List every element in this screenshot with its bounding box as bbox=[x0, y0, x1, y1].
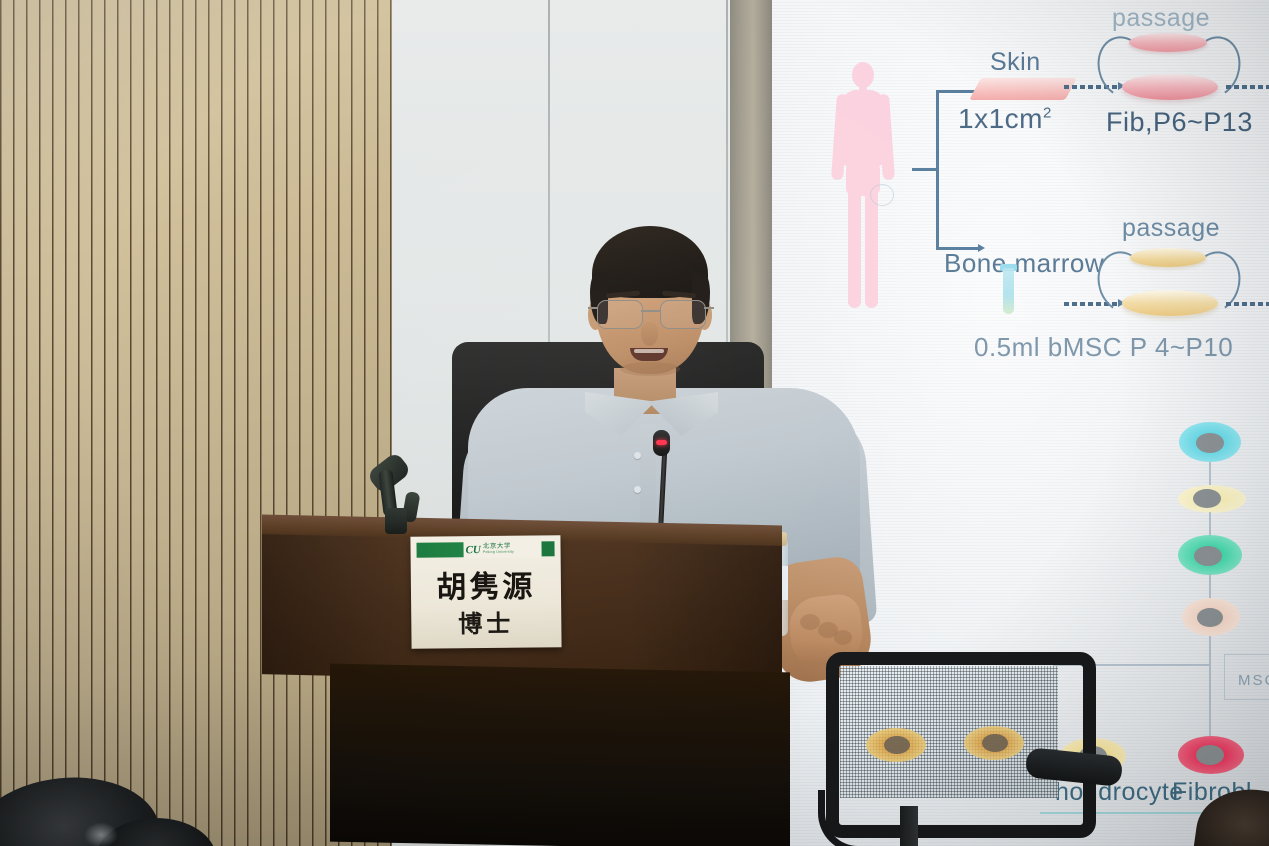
skin-sample-shape bbox=[969, 78, 1077, 100]
cell-teal-nucleus bbox=[1194, 546, 1222, 566]
glasses-lens-left bbox=[597, 300, 643, 329]
branch-to-fibroblast bbox=[1209, 664, 1211, 736]
arrow-fib-out bbox=[1226, 85, 1269, 89]
shirt-button-1 bbox=[634, 452, 641, 459]
nameplate-name: 胡隽源 bbox=[411, 561, 561, 607]
slide-skin-label: Skin bbox=[990, 48, 1041, 77]
cell-peach-nucleus bbox=[1197, 608, 1223, 627]
slide-passage-label-bottom: passage bbox=[1122, 214, 1220, 243]
petri-dish-yellow-small bbox=[1130, 248, 1206, 267]
chair-post bbox=[900, 806, 918, 846]
logo-text-en: Peking University bbox=[483, 551, 514, 555]
glasses-lens-right bbox=[660, 300, 706, 329]
slide-bone-marrow-label: Bone marrow bbox=[944, 248, 1104, 279]
glasses-bridge bbox=[641, 310, 661, 312]
floor-cable bbox=[818, 790, 895, 846]
cell-link-1 bbox=[1209, 462, 1211, 486]
slide-bmsc-label: 0.5ml bMSC P 4~P10 bbox=[974, 332, 1233, 363]
slide-passage-label-top: passage bbox=[1112, 4, 1210, 33]
slide-fib-label: Fib,P6~P13 bbox=[1106, 107, 1253, 138]
bracket-stem bbox=[912, 168, 938, 171]
marrow-tube-icon bbox=[1003, 268, 1014, 314]
glasses-temple-right bbox=[704, 307, 714, 309]
microphone-led-indicator bbox=[656, 440, 667, 445]
cell-cyan-nucleus bbox=[1196, 433, 1224, 453]
audience-highlight bbox=[84, 822, 118, 846]
slide-msc-label: MSC bbox=[1238, 672, 1269, 689]
petri-dish-yellow-large bbox=[1122, 290, 1218, 316]
cell-link-4 bbox=[1209, 636, 1211, 666]
glasses-temple-left bbox=[588, 307, 598, 309]
speaker-nose bbox=[641, 322, 658, 346]
slide-skin-size-label: 1x1cm2 bbox=[958, 103, 1052, 135]
nameplate-title: 博士 bbox=[411, 603, 561, 640]
logo-mark-icon: CU bbox=[465, 544, 480, 556]
presentation-photo-scene: Skin 1x1cm2 passage Fib,P6~P13 Bone marr… bbox=[0, 0, 1269, 846]
petri-dish-pink-small bbox=[1129, 33, 1207, 52]
arrow-bmsc-out bbox=[1226, 302, 1269, 306]
cell-link-2 bbox=[1209, 512, 1211, 536]
nameplate-logo: CU 北京大学 Peking University bbox=[463, 540, 541, 558]
hand-knuckle-1 bbox=[800, 614, 820, 630]
cell-yellow-nucleus bbox=[1193, 489, 1221, 508]
speaker-chin-shadow bbox=[620, 362, 680, 376]
podium-base bbox=[330, 664, 790, 846]
shirt-button-2 bbox=[634, 486, 641, 493]
hand-knuckle-3 bbox=[834, 630, 852, 645]
speaker-teeth bbox=[634, 349, 664, 353]
fibroblast-nucleus bbox=[1196, 745, 1224, 765]
human-body-silhouette-icon bbox=[832, 62, 894, 312]
speaker-nameplate: CU 北京大学 Peking University 胡隽源 博士 bbox=[410, 535, 561, 649]
cell-link-3 bbox=[1209, 574, 1211, 598]
petri-dish-pink-large bbox=[1122, 74, 1218, 100]
podium-microphone-base bbox=[385, 508, 407, 534]
bracket-vertical bbox=[936, 90, 939, 250]
